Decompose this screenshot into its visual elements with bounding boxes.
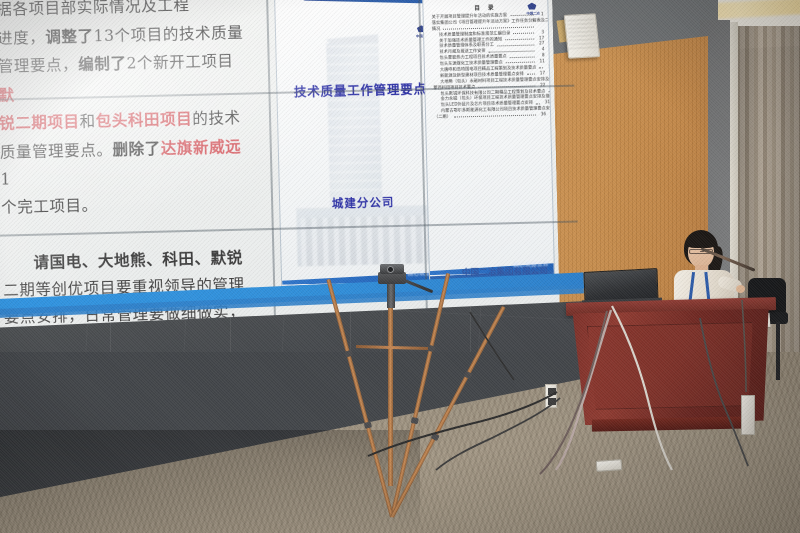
toc-leader-dots xyxy=(513,33,534,35)
camera-lens-icon xyxy=(387,266,394,273)
toc-leader-dots xyxy=(489,50,535,52)
tripod-leg-lock xyxy=(427,345,435,352)
toc-leader-dots xyxy=(497,44,534,46)
floor-cable-plug[interactable] xyxy=(741,395,755,435)
doc-line: 质量管理要点。删除了达旗新威远1 xyxy=(0,132,251,194)
presenter-hand xyxy=(736,285,745,293)
camera-icon[interactable] xyxy=(380,264,404,274)
toc-leader-dots xyxy=(505,38,534,40)
ceiling-speaker-icon xyxy=(564,13,601,58)
toc-leader-dots xyxy=(510,15,534,17)
building-watermark xyxy=(292,33,434,266)
toc-leader-dots xyxy=(536,103,540,104)
presenter-fringe xyxy=(686,235,716,248)
toc-page-number: 11 xyxy=(538,59,545,63)
slide-top-band xyxy=(275,0,441,8)
toc-page-number: 3 xyxy=(537,30,544,34)
toc-leader-dots xyxy=(506,62,535,64)
wall-power-outlet[interactable] xyxy=(545,384,557,408)
podium-front-panel xyxy=(587,322,755,410)
tripod-leg xyxy=(390,273,450,517)
tripod-leg xyxy=(326,279,394,518)
speaker-grill xyxy=(566,17,597,49)
chair-leg xyxy=(776,322,780,380)
toc-page-number: 17 xyxy=(537,36,544,40)
toc-leader-dots xyxy=(539,68,543,69)
tripod-neck xyxy=(387,282,395,308)
building-columns xyxy=(301,215,430,266)
tripod-leg-lock xyxy=(363,421,371,429)
tripod-leg-lock xyxy=(410,417,418,424)
ppt-toc-slide[interactable]: 一、技术质量工作完成情况 中国二冶 目 录 关于开展项目管理提升年活动的实施方案… xyxy=(422,0,555,282)
toc-entry: （二期）36 xyxy=(434,112,546,119)
toc-list: 关于开展项目管理提升年活动的实施方案1落实集团公司《项目管理提升年活动方案》工作… xyxy=(432,12,547,121)
toc-page-number: 1 xyxy=(537,12,544,16)
tripod-leg-lock xyxy=(344,350,352,358)
doc-line: 管理要点，编制了2个新开工项目默 xyxy=(0,47,249,110)
projected-document-text: 据各项目部实际情况及工程 进度，调整了13个项目的技术质量 管理要点，编制了2个… xyxy=(0,0,270,311)
outlet-socket xyxy=(548,388,556,395)
podium-base xyxy=(592,416,752,431)
toc-leader-dots xyxy=(454,115,536,118)
toc-page-number: 4 xyxy=(537,48,544,52)
toc-page-number: 27 xyxy=(537,42,544,46)
toc-leader-dots xyxy=(527,74,535,75)
tower-window-lines xyxy=(326,42,382,218)
toc-page-number: 17 xyxy=(538,71,545,75)
floor-power-strip[interactable] xyxy=(596,459,623,472)
toc-page-number: 36 xyxy=(539,112,546,116)
photo-scene: 据各项目部实际情况及工程 进度，调整了13个项目的技术质量 管理要点，编制了2个… xyxy=(0,0,800,533)
outlet-socket xyxy=(548,398,556,405)
toc-leader-dots xyxy=(510,56,535,58)
toc-page-number: 8 xyxy=(538,54,545,58)
tripod-leg-lock xyxy=(430,432,439,441)
camera-tripod[interactable] xyxy=(330,272,470,517)
tripod-center-column xyxy=(388,306,393,486)
toc-entry-text: 情况 xyxy=(432,27,440,32)
toc-leader-dots xyxy=(443,27,534,30)
toc-entry-text: （二期） xyxy=(434,115,451,120)
wooden-podium[interactable] xyxy=(566,300,776,470)
